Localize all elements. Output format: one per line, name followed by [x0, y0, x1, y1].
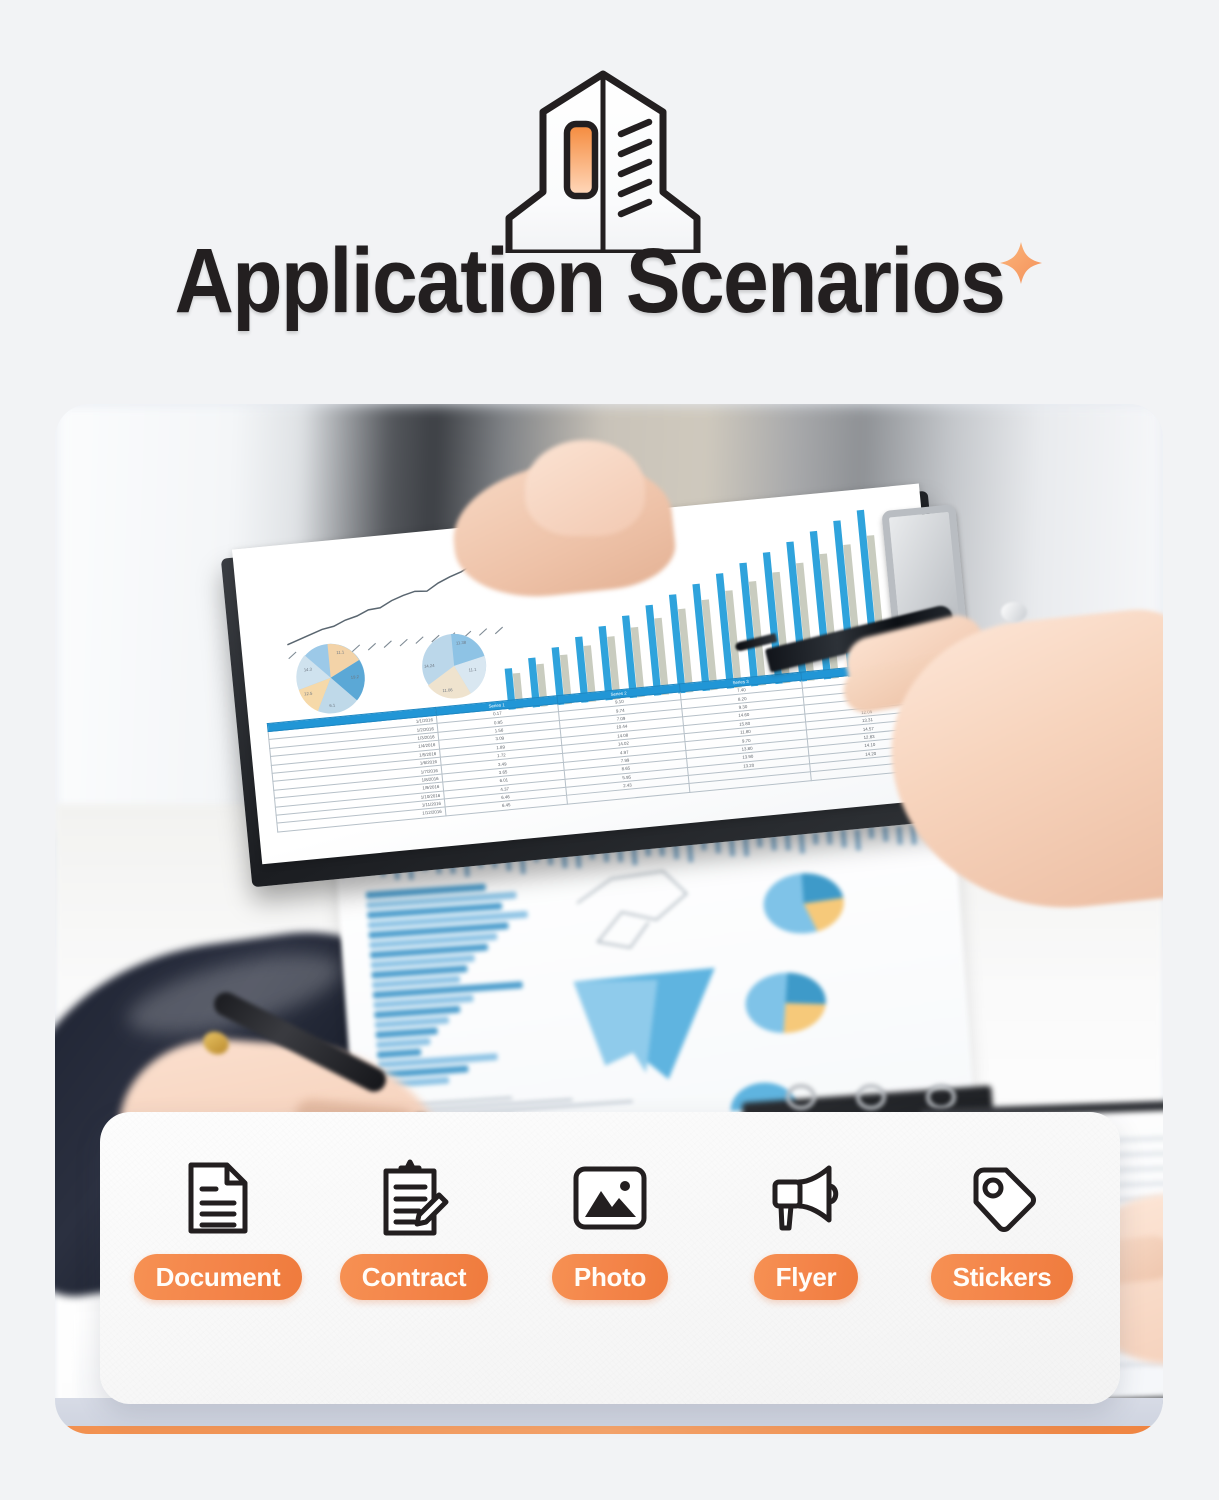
svg-text:11.1: 11.1	[468, 667, 477, 673]
svg-text:11.06: 11.06	[442, 687, 453, 693]
pie-right: 11.3811.1 11.0614.24	[419, 631, 489, 701]
sparkle-icon	[998, 240, 1044, 286]
clipboard-pencil-icon	[379, 1156, 449, 1240]
ring-highlight	[1001, 602, 1027, 622]
page-title: Application Scenarios	[175, 236, 1005, 328]
svg-text:19.2: 19.2	[351, 674, 360, 680]
scenario-label-document[interactable]: Document	[134, 1254, 303, 1300]
scenario-item-photo[interactable]: Photo	[520, 1156, 700, 1300]
scenario-label-contract[interactable]: Contract	[340, 1254, 489, 1300]
scenario-card: Document Contract	[100, 1112, 1120, 1404]
building-skyscraper-icon	[497, 68, 709, 253]
scenario-item-document[interactable]: Document	[128, 1156, 308, 1300]
funnel-chart	[569, 962, 727, 1092]
scenario-list: Document Contract	[128, 1156, 1092, 1300]
photo-accent-line	[55, 1426, 1163, 1434]
svg-text:6.1: 6.1	[329, 702, 336, 708]
image-picture-icon	[572, 1156, 648, 1240]
horizontal-bar-chart	[366, 879, 570, 1102]
scenario-label-photo[interactable]: Photo	[552, 1254, 668, 1300]
scenario-item-flyer[interactable]: Flyer	[716, 1156, 896, 1300]
header: Application Scenarios	[0, 0, 1219, 392]
pie-chart-1	[757, 864, 850, 938]
price-tag-icon	[966, 1156, 1038, 1240]
scenario-item-stickers[interactable]: Stickers	[912, 1156, 1092, 1300]
svg-text:11.38: 11.38	[456, 640, 467, 646]
megaphone-icon	[766, 1156, 846, 1240]
page-title-row: Application Scenarios	[0, 236, 1219, 318]
network-diagram	[567, 861, 723, 961]
document-file-icon	[186, 1156, 250, 1240]
scenario-label-stickers[interactable]: Stickers	[931, 1254, 1074, 1300]
scenario-item-contract[interactable]: Contract	[324, 1156, 504, 1300]
pie-chart-2	[739, 964, 832, 1038]
pie-left: 11.119.2 6.112.5 14.3	[293, 641, 368, 717]
scenario-label-flyer[interactable]: Flyer	[754, 1254, 859, 1300]
svg-text:11.1: 11.1	[336, 649, 345, 655]
svg-text:14.24: 14.24	[424, 663, 436, 669]
left-person-fingers	[525, 440, 645, 536]
svg-text:12.5: 12.5	[304, 691, 313, 697]
svg-text:14.3: 14.3	[304, 667, 313, 673]
